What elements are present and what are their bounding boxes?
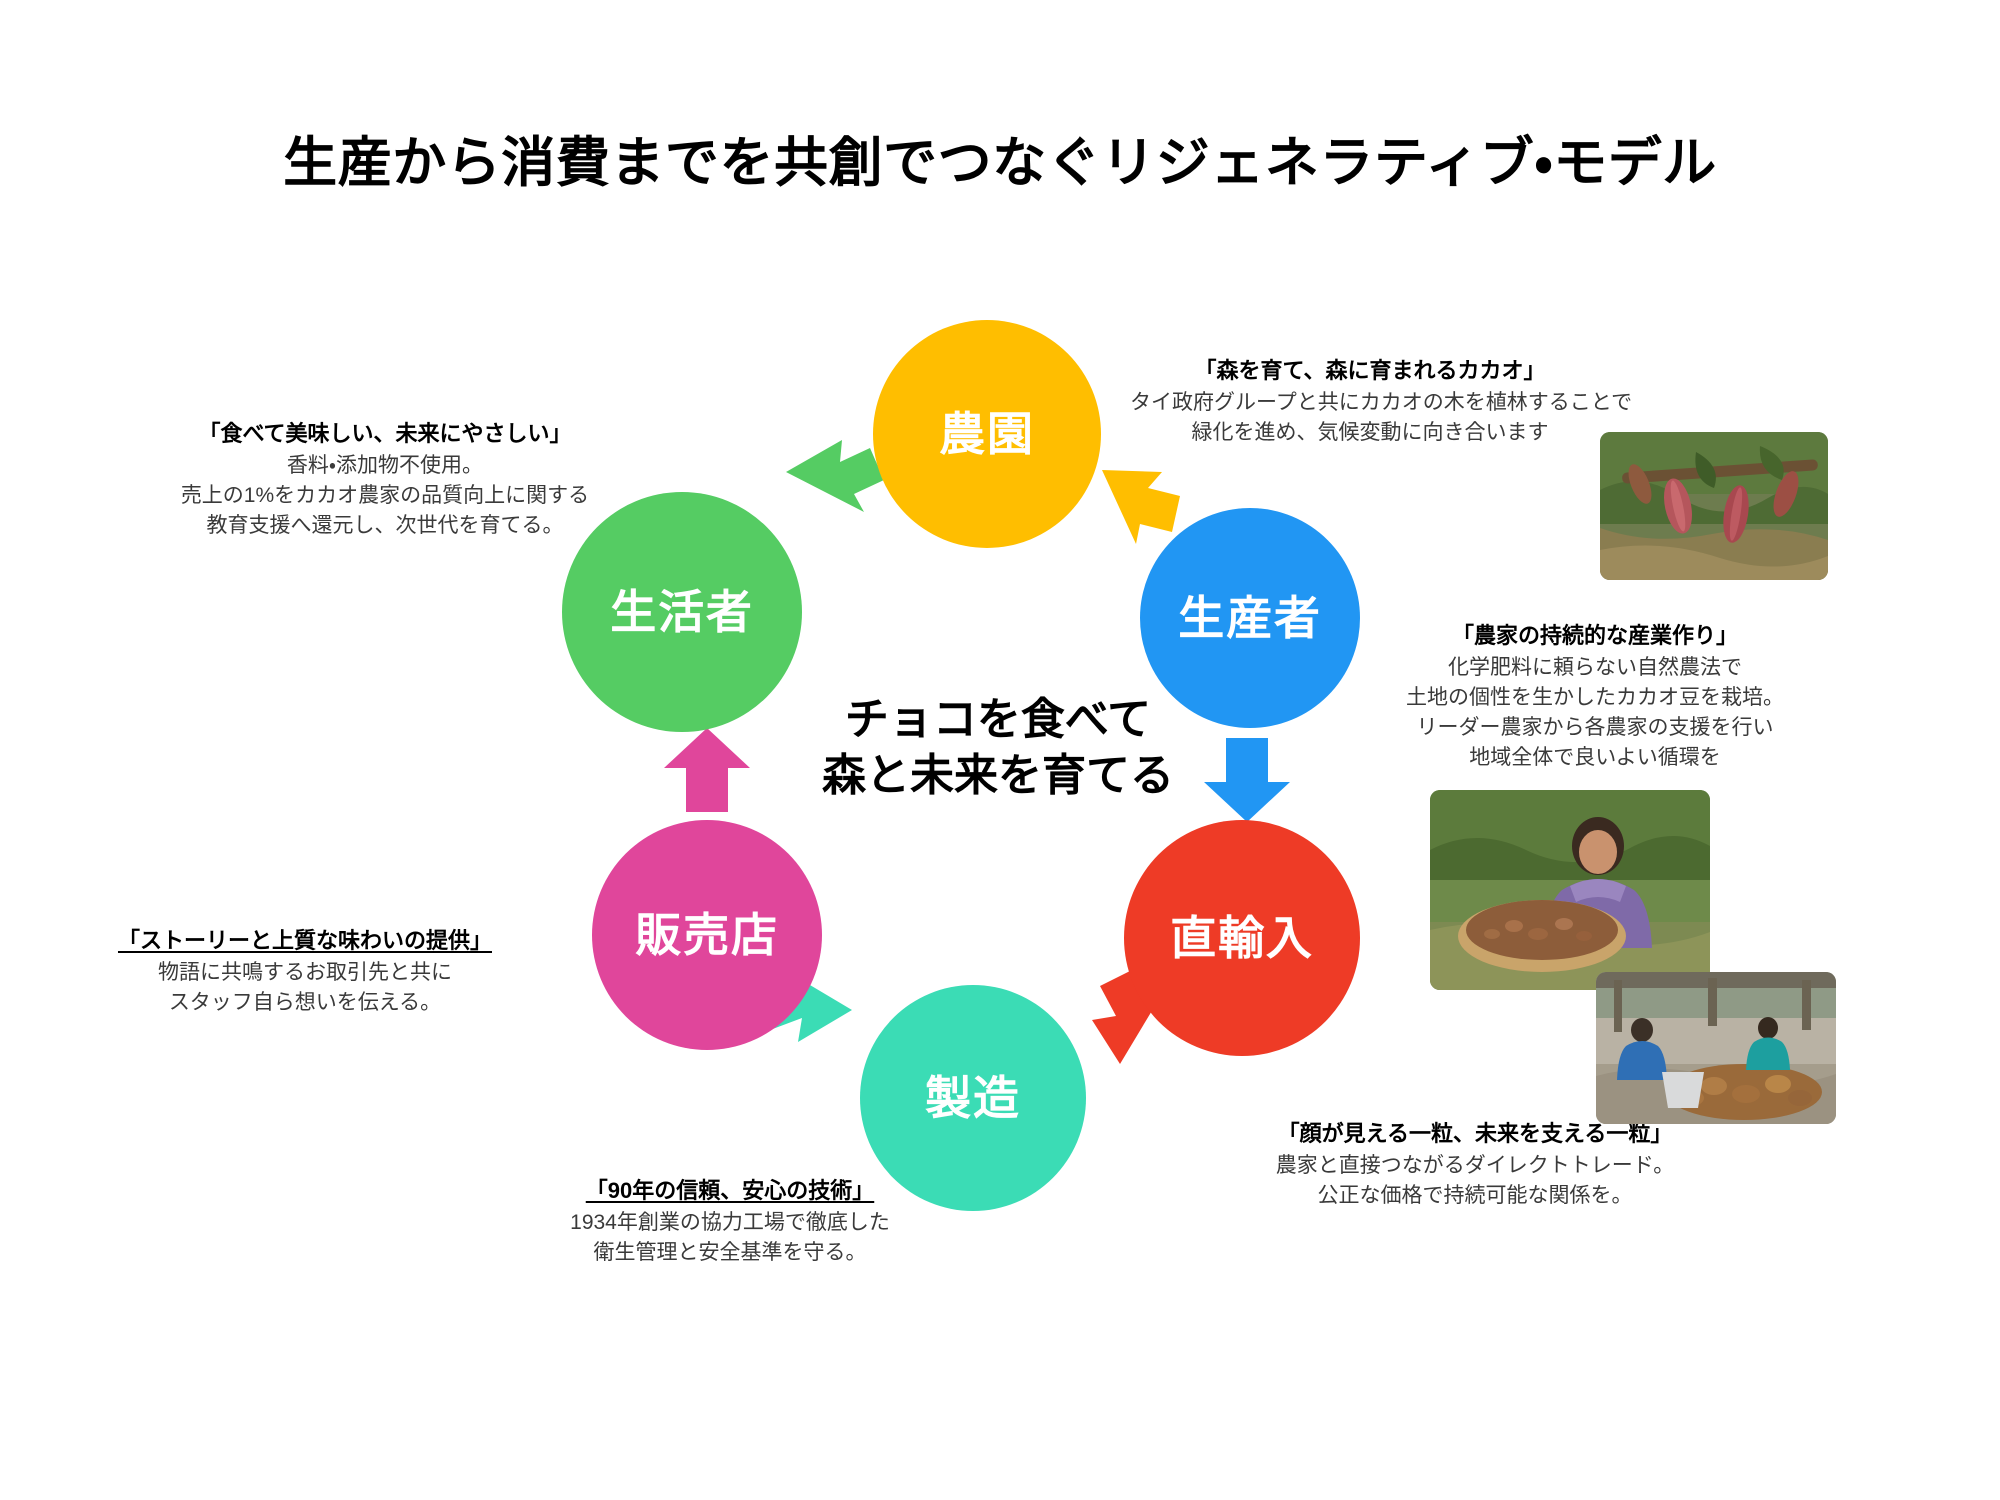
photo-workers [1596, 972, 1836, 1124]
annotation-retail: 「ストーリーと上質な味わいの提供」 物語に共鳴するお取引先と共に スタッフ自ら想… [100, 925, 510, 1018]
annotation-manufacturing-line-2: 衛生管理と安全基準を守る。 [540, 1238, 920, 1268]
annotation-manufacturing-heading: 「90年の信頼、安心の技術」 [540, 1175, 920, 1206]
annotation-producer-line-4: 地域全体で良いよい循環を [1395, 743, 1795, 773]
annotation-retail-heading: 「ストーリーと上質な味わいの提供」 [100, 925, 510, 956]
arrow-producer-to-import [1204, 738, 1290, 822]
annotation-consumer-heading: 「食べて美味しい、未来にやさしい」 [155, 418, 615, 449]
cycle-node-producer-label: 生産者 [1178, 595, 1322, 641]
annotation-consumer: 「食べて美味しい、未来にやさしい」 香料・添加物不使用。 売上の1%をカカオ農家… [155, 418, 615, 541]
annotation-producer-line-1: 化学肥料に頼らない自然農法で [1395, 653, 1795, 683]
annotation-retail-line-1: 物語に共鳴するお取引先と共に [100, 958, 510, 988]
annotation-producer-line-2: 土地の個性を生かしたカカオ豆を栽培。 [1395, 683, 1795, 713]
annotation-farm-body: タイ政府グループと共にカカオの木を植林することで 緑化を進め、気候変動に向き合い… [1130, 388, 1610, 448]
arrow-retail-to-consumer [664, 728, 750, 812]
slide-canvas: 生産から消費までを共創でつなぐリジェネラティブ・モデル [0, 0, 2000, 1500]
cycle-node-retail[interactable]: 販売店 [592, 820, 822, 1050]
photo-farmer [1430, 790, 1710, 990]
annotation-consumer-line-1: 香料・添加物不使用。 [155, 451, 615, 481]
annotation-import-body: 農家と直接つながるダイレクトトレード。 公正な価格で持続可能な関係を。 [1240, 1151, 1710, 1211]
annotation-consumer-line-3: 教育支援へ還元し、次世代を育てる。 [155, 511, 615, 541]
annotation-producer-body: 化学肥料に頼らない自然農法で 土地の個性を生かしたカカオ豆を栽培。 リーダー農家… [1395, 653, 1795, 772]
annotation-retail-line-2: スタッフ自ら想いを伝える。 [100, 988, 510, 1018]
center-message-line-1: チョコを食べて [798, 692, 1198, 748]
annotation-farm: 「森を育て、森に育まれるカカオ」 タイ政府グループと共にカカオの木を植林すること… [1130, 355, 1610, 448]
farmer-image [1430, 790, 1710, 990]
annotation-manufacturing: 「90年の信頼、安心の技術」 1934年創業の協力工場で徹底した 衛生管理と安全… [540, 1175, 920, 1268]
annotation-import: 「顔が見える一粒、未来を支える一粒」 農家と直接つながるダイレクトトレード。 公… [1240, 1118, 1710, 1211]
annotation-manufacturing-body: 1934年創業の協力工場で徹底した 衛生管理と安全基準を守る。 [540, 1208, 920, 1268]
annotation-manufacturing-line-1: 1934年創業の協力工場で徹底した [540, 1208, 920, 1238]
page-title: 生産から消費までを共創でつなぐリジェネラティブ・モデル [0, 118, 2000, 197]
annotation-farm-line-2: 緑化を進め、気候変動に向き合います [1130, 418, 1610, 448]
arrow-farm-to-producer [1102, 470, 1180, 544]
photo-cacao-tree [1600, 432, 1828, 580]
regenerative-cycle-diagram: 農園 生産者 直輸入 製造 販売店 生活者 チョコを食べて 森と未来を育てる [540, 320, 1420, 1220]
annotation-farm-heading: 「森を育て、森に育まれるカカオ」 [1130, 355, 1610, 386]
annotation-import-line-1: 農家と直接つながるダイレクトトレード。 [1240, 1151, 1710, 1181]
cycle-node-manufacturing-label: 製造 [925, 1075, 1021, 1121]
center-message: チョコを食べて 森と未来を育てる [798, 692, 1198, 805]
annotation-import-line-2: 公正な価格で持続可能な関係を。 [1240, 1181, 1710, 1211]
center-message-line-2: 森と未来を育てる [798, 748, 1198, 804]
annotation-producer-heading: 「農家の持続的な産業作り」 [1395, 620, 1795, 651]
arrow-consumer-to-farm [786, 440, 884, 512]
annotation-producer: 「農家の持続的な産業作り」 化学肥料に頼らない自然農法で 土地の個性を生かしたカ… [1395, 620, 1795, 772]
annotation-retail-body: 物語に共鳴するお取引先と共に スタッフ自ら想いを伝える。 [100, 958, 510, 1018]
annotation-producer-line-3: リーダー農家から各農家の支援を行い [1395, 713, 1795, 743]
workers-image [1596, 972, 1836, 1124]
cycle-node-consumer-label: 生活者 [610, 589, 754, 635]
cacao-tree-image [1600, 432, 1828, 580]
cycle-node-farm[interactable]: 農園 [873, 320, 1101, 548]
cycle-node-farm-label: 農園 [939, 411, 1035, 457]
cycle-node-import-label: 直輸入 [1170, 915, 1314, 961]
annotation-consumer-line-2: 売上の1%をカカオ農家の品質向上に関する [155, 481, 615, 511]
cycle-node-import[interactable]: 直輸入 [1124, 820, 1360, 1056]
annotation-consumer-body: 香料・添加物不使用。 売上の1%をカカオ農家の品質向上に関する 教育支援へ還元し… [155, 451, 615, 540]
annotation-farm-line-1: タイ政府グループと共にカカオの木を植林することで [1130, 388, 1610, 418]
cycle-node-retail-label: 販売店 [635, 912, 779, 958]
